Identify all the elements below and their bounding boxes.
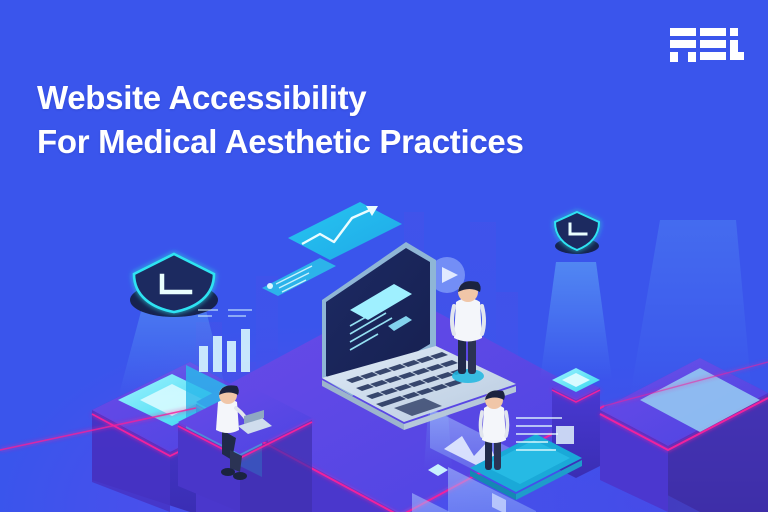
logo[interactable] [670,28,744,62]
line-chart-card [288,202,402,260]
banner: Website Accessibility For Medical Aesthe… [0,0,768,512]
logo-letter-a [670,28,696,62]
isometric-illustration [0,150,768,512]
logo-letter-l [730,28,744,60]
logo-letter-e [700,28,726,60]
cube-right-beam [630,220,752,396]
security-shield-right [555,212,599,254]
illustration-alt-text: Isometric illustration of website access… [0,0,1,1]
notification-card [262,258,336,296]
light-beam-right [540,262,612,380]
hologram-block [556,426,574,444]
security-shield-left [130,254,218,317]
